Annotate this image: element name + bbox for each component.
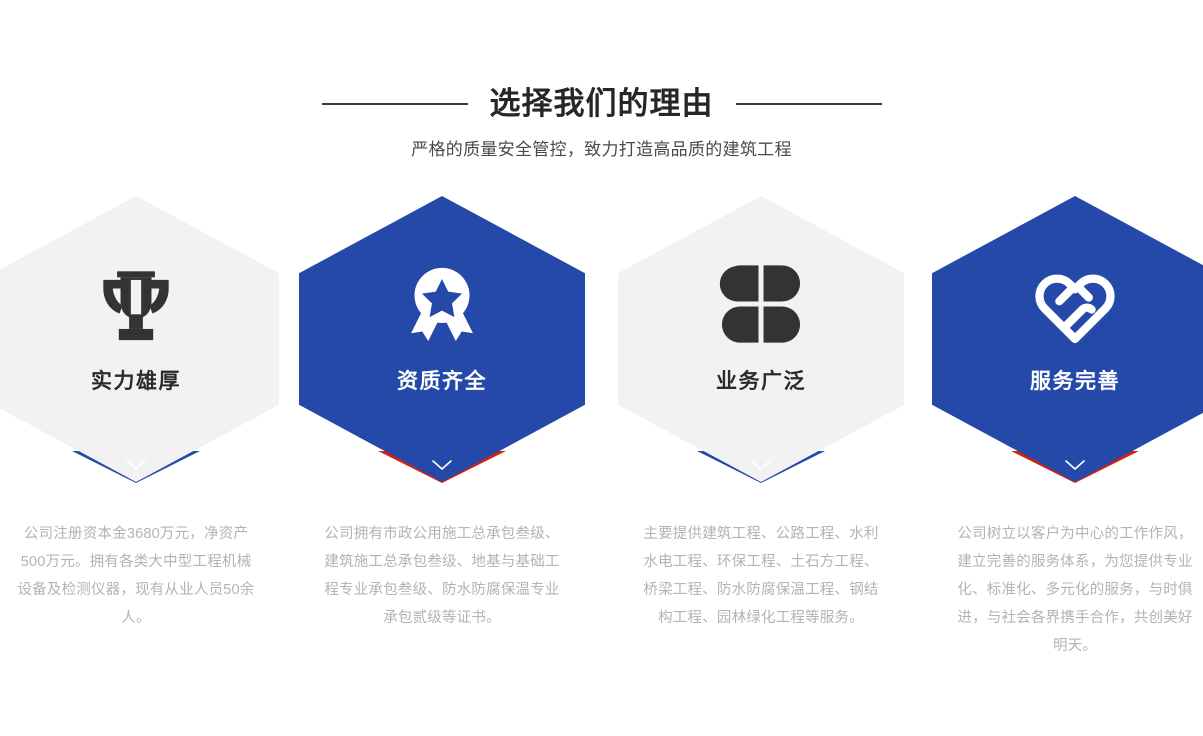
trophy-icon (86, 254, 186, 354)
card-title: 实力雄厚 (91, 368, 181, 396)
hexagon-wrapper: 服务完善 (932, 196, 1203, 488)
page-title: 选择我们的理由 (490, 84, 714, 124)
chevron-down-icon[interactable] (1064, 459, 1086, 471)
heading-rule-left (322, 103, 468, 105)
heading-rule-right (736, 103, 882, 105)
hexagon-badge: 业务广泛 (618, 196, 904, 482)
feature-card[interactable]: 业务广泛 主要提供建筑工程、公路工程、水利水电工程、环保工程、土石方工程、桥梁工… (618, 196, 904, 676)
hexagon-wrapper: 业务广泛 (618, 196, 904, 488)
feature-card[interactable]: 实力雄厚 公司注册资本金3680万元，净资产500万元。拥有各类大中型工程机械设… (0, 196, 279, 676)
why-choose-us-section: 选择我们的理由 严格的质量安全管控，致力打造高品质的建筑工程 (0, 0, 1203, 736)
card-title: 资质齐全 (397, 368, 487, 396)
hexagon-wrapper: 资质齐全 (299, 196, 585, 488)
hexagon-badge: 资质齐全 (299, 196, 585, 482)
section-heading: 选择我们的理由 严格的质量安全管控，致力打造高品质的建筑工程 (0, 84, 1203, 163)
card-description: 公司注册资本金3680万元，净资产500万元。拥有各类大中型工程机械设备及检测仪… (14, 520, 258, 632)
card-title: 服务完善 (1030, 368, 1120, 396)
feature-card[interactable]: 资质齐全 公司拥有市政公用施工总承包叁级、建筑施工总承包叁级、地基与基础工程专业… (299, 196, 585, 676)
chevron-down-icon[interactable] (125, 459, 147, 471)
heading-row: 选择我们的理由 (0, 84, 1203, 124)
feature-card-list: 实力雄厚 公司注册资本金3680万元，净资产500万元。拥有各类大中型工程机械设… (0, 196, 1203, 676)
card-title: 业务广泛 (716, 368, 806, 396)
handshake-heart-icon (1025, 254, 1125, 354)
chevron-down-icon[interactable] (431, 459, 453, 471)
section-subtitle: 严格的质量安全管控，致力打造高品质的建筑工程 (0, 137, 1203, 163)
hexagon-badge: 实力雄厚 (0, 196, 279, 482)
four-petal-clover-icon (711, 254, 811, 354)
card-description: 公司树立以客户为中心的工作作风，建立完善的服务体系，为您提供专业化、标准化、多元… (953, 520, 1197, 660)
chevron-down-icon[interactable] (750, 459, 772, 471)
card-description: 公司拥有市政公用施工总承包叁级、建筑施工总承包叁级、地基与基础工程专业承包叁级、… (320, 520, 564, 632)
card-description: 主要提供建筑工程、公路工程、水利水电工程、环保工程、土石方工程、桥梁工程、防水防… (639, 520, 883, 632)
medal-star-icon (392, 254, 492, 354)
feature-card[interactable]: 服务完善 公司树立以客户为中心的工作作风，建立完善的服务体系，为您提供专业化、标… (932, 196, 1203, 676)
hexagon-wrapper: 实力雄厚 (0, 196, 279, 488)
hexagon-badge: 服务完善 (932, 196, 1203, 482)
